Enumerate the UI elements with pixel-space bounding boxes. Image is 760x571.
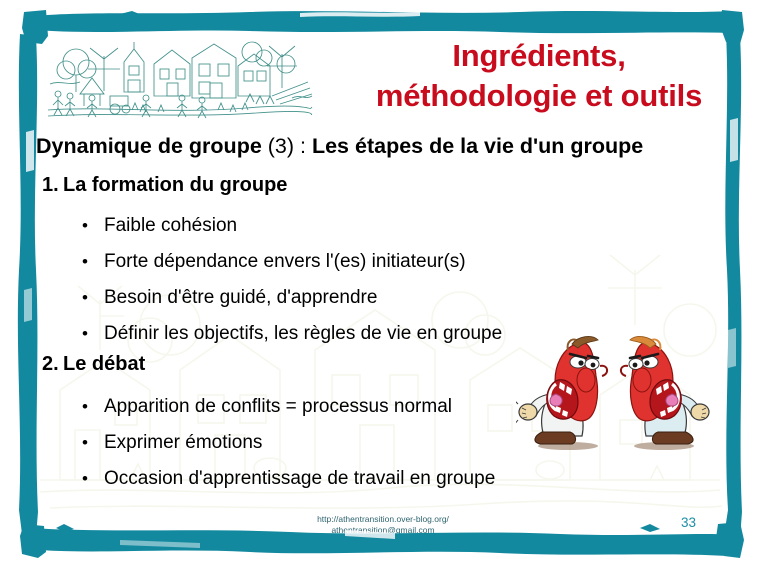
- arguing-characters-image: [516, 332, 712, 452]
- bullet-text: Faible cohésion: [104, 215, 237, 236]
- list-item: •Définir les objectifs, les règles de vi…: [82, 323, 502, 345]
- title-line-2: méthodologie et outils: [336, 76, 742, 116]
- list-item: •Exprimer émotions: [82, 432, 262, 454]
- subtitle-tail: Les étapes de la vie d'un groupe: [312, 134, 643, 158]
- bullet-text: Exprimer émotions: [104, 432, 262, 453]
- section-number-1: 1.: [42, 174, 63, 197]
- bullet-text: Définir les objectifs, les règles de vie…: [104, 323, 502, 344]
- subtitle: Dynamique de groupe (3) : Les étapes de …: [36, 134, 643, 159]
- footer-email[interactable]: athentransition@gmail.com: [248, 525, 518, 536]
- bullet-dot-icon: •: [82, 433, 104, 453]
- bullet-dot-icon: •: [82, 469, 104, 489]
- footer-url[interactable]: http://athentransition.over-blog.org/: [248, 514, 518, 525]
- title-line-1: Ingrédients,: [336, 36, 742, 76]
- section-title-1: La formation du groupe: [63, 174, 287, 196]
- bullet-dot-icon: •: [82, 252, 104, 272]
- bullet-text: Apparition de conflits = processus norma…: [104, 396, 452, 417]
- section-title-2: Le débat: [63, 353, 145, 375]
- section-heading-2: 2.Le débat: [42, 353, 145, 376]
- slide-title: Ingrédients, méthodologie et outils: [336, 36, 742, 115]
- bullet-dot-icon: •: [82, 216, 104, 236]
- footer-contact: http://athentransition.over-blog.org/ at…: [248, 514, 518, 537]
- list-item: •Besoin d'être guidé, d'apprendre: [82, 287, 377, 309]
- list-item: •Faible cohésion: [82, 215, 237, 237]
- bullet-text: Forte dépendance envers l'(es) initiateu…: [104, 251, 466, 272]
- subtitle-lead: Dynamique de groupe: [36, 134, 262, 158]
- bullet-dot-icon: •: [82, 324, 104, 344]
- list-item: •Occasion d'apprentissage de travail en …: [82, 468, 495, 490]
- subtitle-counter: (3) :: [262, 134, 312, 158]
- list-item: •Apparition de conflits = processus norm…: [82, 396, 452, 418]
- bullet-dot-icon: •: [82, 397, 104, 417]
- bullet-text: Besoin d'être guidé, d'apprendre: [104, 287, 377, 308]
- section-heading-1: 1.La formation du groupe: [42, 174, 287, 197]
- bullet-text: Occasion d'apprentissage de travail en g…: [104, 468, 495, 489]
- list-item: •Forte dépendance envers l'(es) initiate…: [82, 251, 466, 273]
- village-line-drawing-image: [46, 36, 314, 120]
- bullet-dot-icon: •: [82, 288, 104, 308]
- slide-canvas: Ingrédients, méthodologie et outils Dyna…: [0, 0, 760, 571]
- page-number: 33: [681, 515, 696, 530]
- section-number-2: 2.: [42, 353, 63, 376]
